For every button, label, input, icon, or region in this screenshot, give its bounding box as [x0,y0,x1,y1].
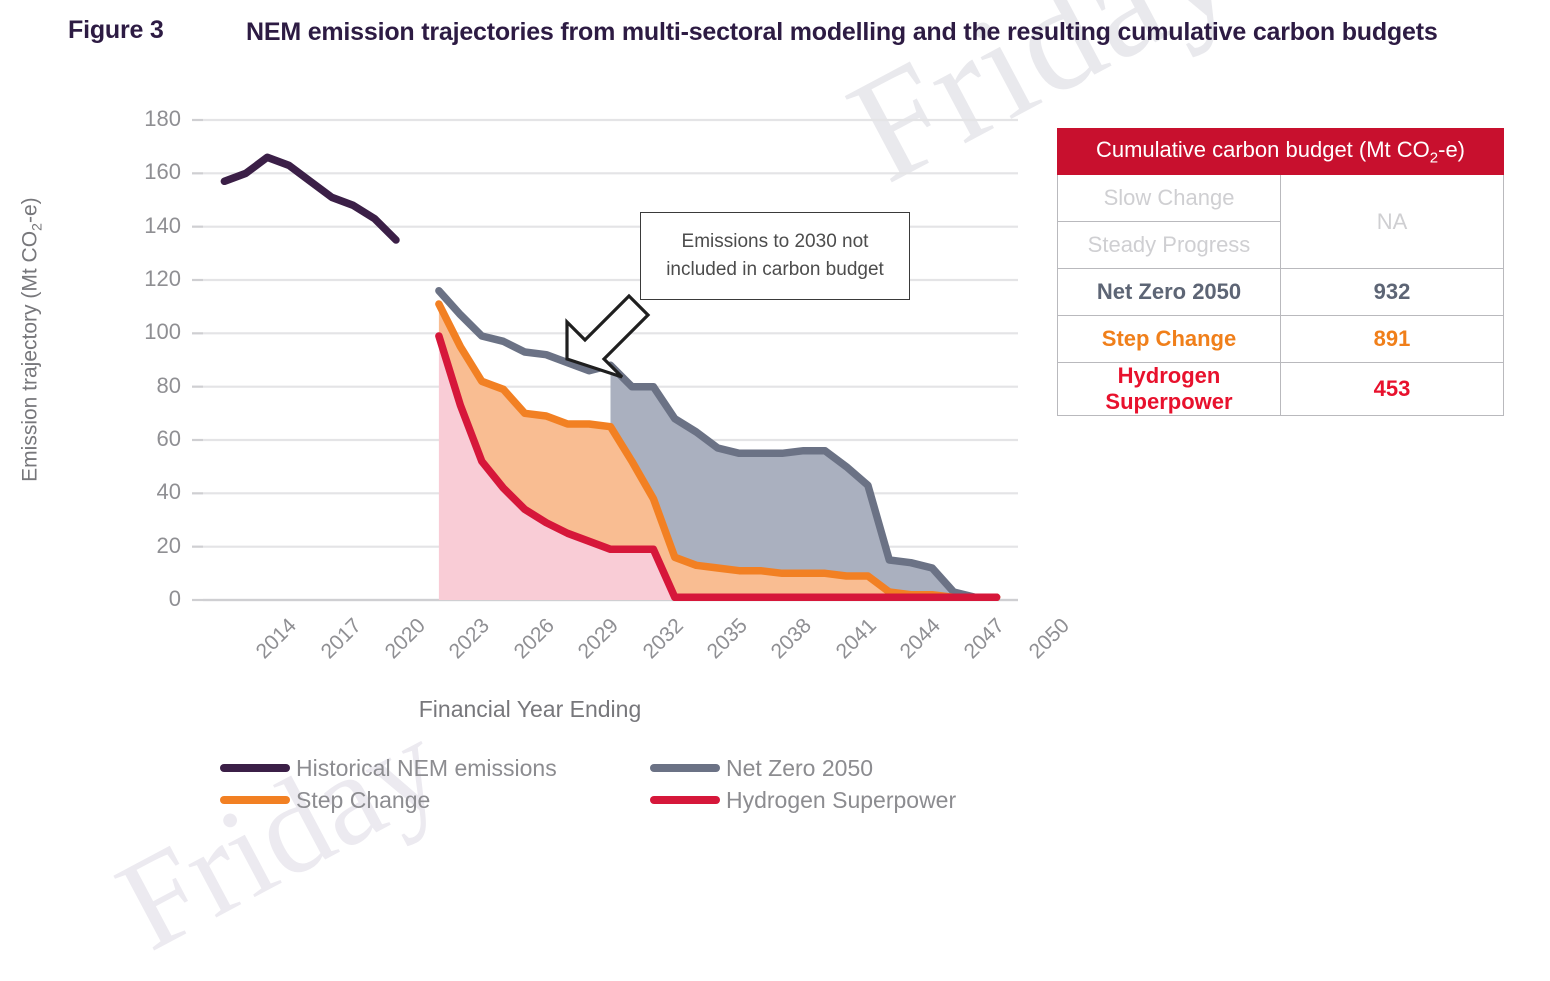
budget-value-step-change: 891 [1281,316,1504,363]
y-axis-tick-label: 0 [121,586,181,612]
x-axis-title: Financial Year Ending [270,696,790,723]
emissions-chart: Emission trajectory (Mt CO2-e) Financial… [0,96,1050,716]
annotation-line-1: Emissions to 2030 not [674,231,877,252]
y-axis-tick-label: 60 [121,426,181,452]
table-row: Step Change 891 [1058,316,1504,363]
cumulative-carbon-budget-table: Cumulative carbon budget (Mt CO2-e) Slow… [1057,128,1504,416]
y-axis-tick-label: 20 [121,533,181,559]
chart-legend: Historical NEM emissions Net Zero 2050 S… [220,752,1050,816]
y-axis-title: Emission trajectory (Mt CO2-e) [18,160,45,520]
legend-item-historical: Historical NEM emissions [220,755,650,782]
scenario-name-slow-change: Slow Change [1058,175,1281,222]
table-header-label: Cumulative carbon budget (Mt CO2-e) [1058,129,1504,175]
annotation-callout: Emissions to 2030 not included in carbon… [640,212,910,300]
legend-label-historical: Historical NEM emissions [296,755,557,782]
budget-value-na: NA [1281,175,1504,269]
annotation-text: Emissions to 2030 not included in carbon… [650,228,900,285]
legend-item-net-zero: Net Zero 2050 [650,755,1050,782]
annotation-line-2: included in carbon budget [658,259,892,280]
budget-value-hydrogen-superpower: 453 [1281,363,1504,416]
figure-title: NEM emission trajectories from multi-sec… [246,16,1536,48]
legend-swatch-historical [220,764,290,772]
y-axis-tick-label: 100 [121,319,181,345]
scenario-name-steady-progress: Steady Progress [1058,222,1281,269]
scenario-name-net-zero-2050: Net Zero 2050 [1058,269,1281,316]
y-axis-tick-label: 160 [121,159,181,185]
y-axis-tick-label: 120 [121,266,181,292]
y-axis-tick-label: 40 [121,479,181,505]
chart-plot-area [0,96,1050,716]
watermark-text-secondary: Friday [95,689,465,981]
legend-label-net-zero: Net Zero 2050 [726,755,873,782]
scenario-name-hydrogen-superpower: Hydrogen Superpower [1058,363,1281,416]
y-axis-tick-label: 140 [121,213,181,239]
figure-number: Figure 3 [68,16,164,45]
legend-label-step-change: Step Change [296,787,430,814]
scenario-name-step-change: Step Change [1058,316,1281,363]
budget-value-net-zero-2050: 932 [1281,269,1504,316]
table-row: Hydrogen Superpower 453 [1058,363,1504,416]
table-row: Net Zero 2050 932 [1058,269,1504,316]
legend-label-hydrogen: Hydrogen Superpower [726,787,956,814]
table-row: Slow Change NA [1058,175,1504,222]
table-header-row: Cumulative carbon budget (Mt CO2-e) [1058,129,1504,175]
legend-swatch-net-zero [650,764,720,772]
legend-item-hydrogen: Hydrogen Superpower [650,787,1050,814]
legend-swatch-hydrogen [650,796,720,804]
legend-swatch-step-change [220,796,290,804]
y-axis-tick-label: 80 [121,373,181,399]
legend-item-step-change: Step Change [220,787,650,814]
y-axis-tick-label: 180 [121,106,181,132]
